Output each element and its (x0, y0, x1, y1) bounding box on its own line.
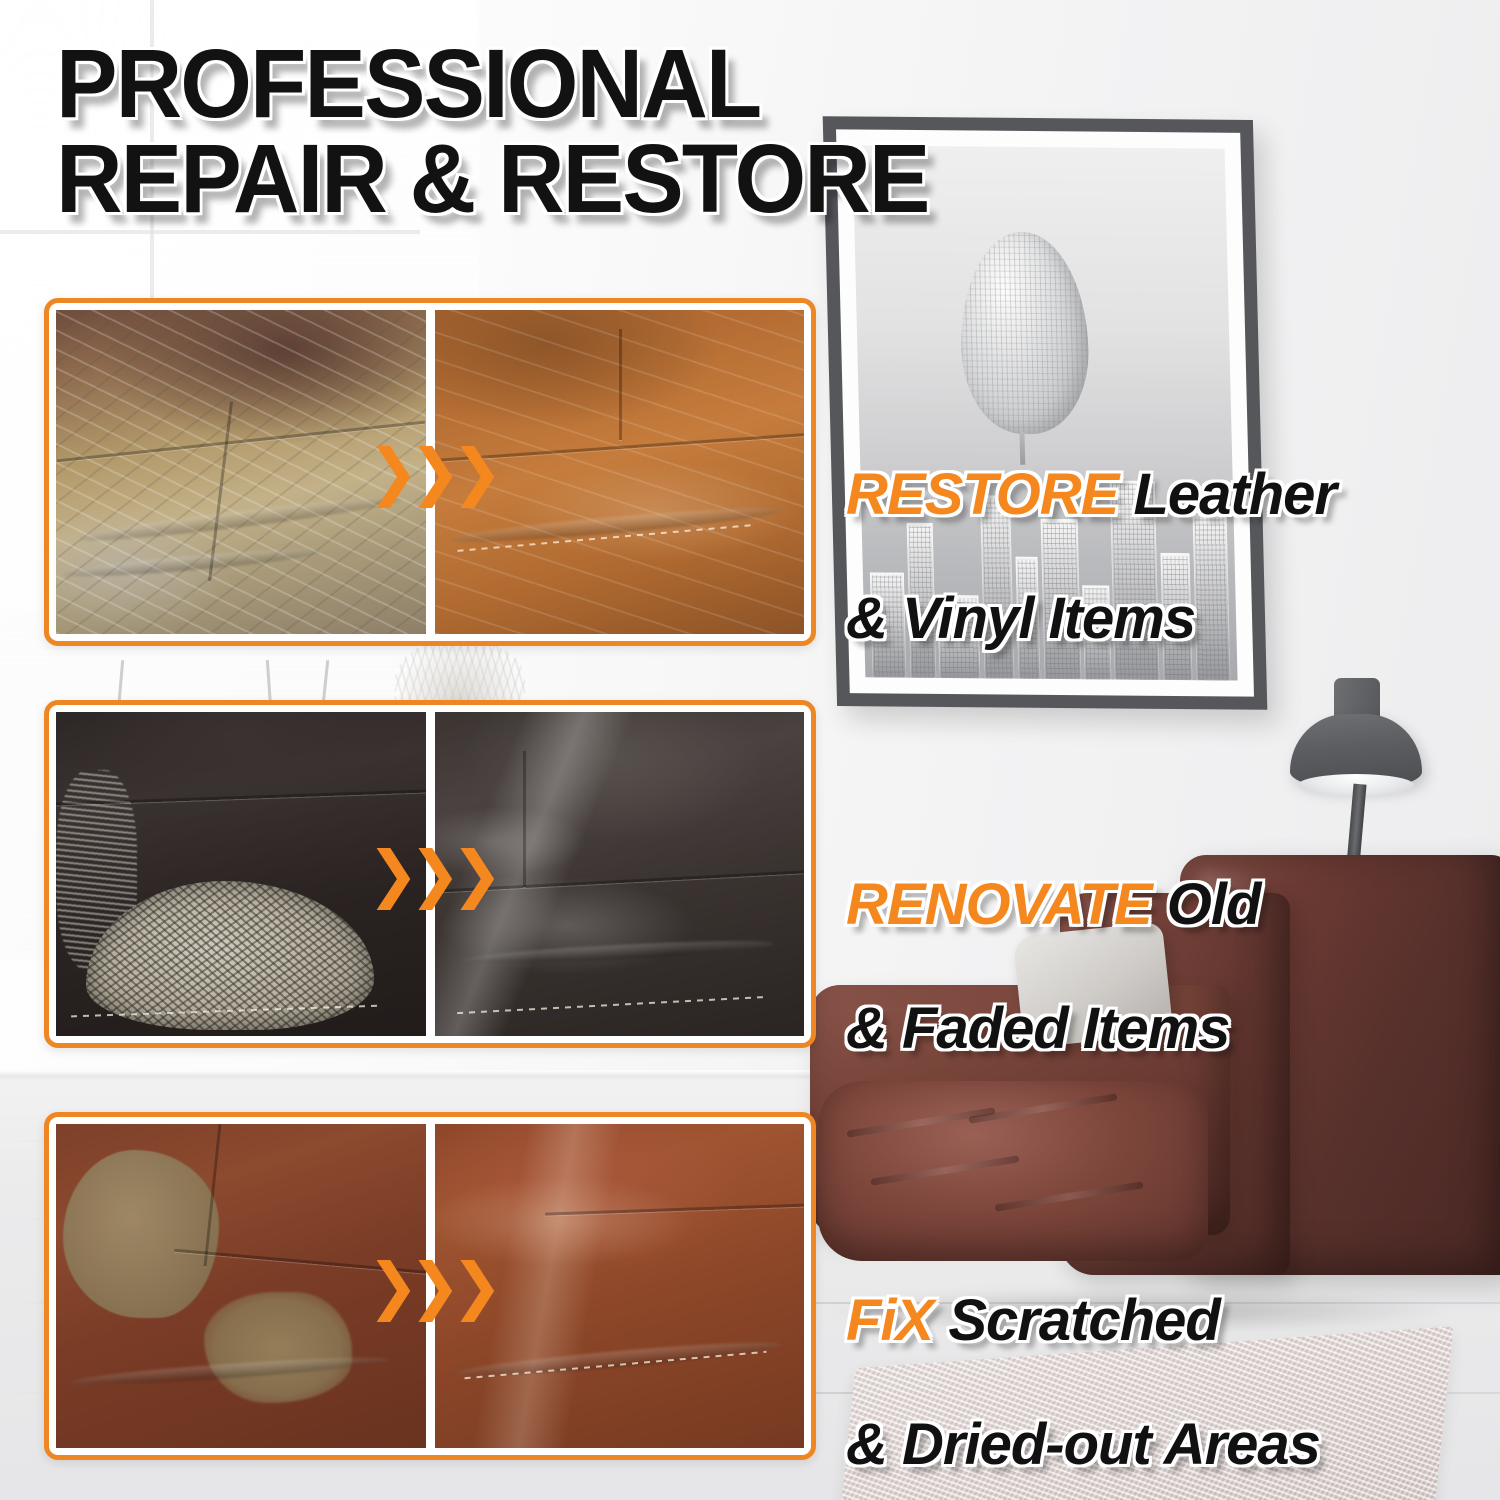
feature-line-1: RESTORE Leather (846, 464, 1336, 526)
feature-text-restore: RESTORE Leather & Vinyl Items (846, 402, 1336, 712)
after-image-dark-recliner (435, 712, 805, 1036)
headline-line-2: REPAIR & RESTORE (56, 124, 928, 233)
page-title: PROFESSIONALREPAIR & RESTORE (56, 36, 928, 226)
after-image-tan-sofa (435, 310, 805, 634)
before-image-brown-sofa (56, 1124, 426, 1448)
before-after-pair: ❯❯❯ (56, 712, 804, 1036)
product-infographic: PROFESSIONALREPAIR & RESTORE ❯❯❯ (0, 0, 1500, 1500)
before-image-dark-recliner (56, 712, 426, 1036)
feature-keyword: RESTORE (846, 462, 1118, 527)
feature-keyword: RENOVATE (846, 872, 1152, 937)
before-after-pair: ❯❯❯ (56, 310, 804, 634)
before-after-pair: ❯❯❯ (56, 1124, 804, 1448)
feature-line-1: FiX Scratched (846, 1290, 1320, 1352)
feature-line-2: & Faded Items (846, 998, 1260, 1060)
before-image-tan-sofa (56, 310, 426, 634)
feature-rest: Old (1152, 872, 1261, 937)
feature-line-1: RENOVATE Old (846, 874, 1260, 936)
comparison-panel-renovate: ❯❯❯ (44, 700, 816, 1048)
feature-rest: Scratched (933, 1288, 1220, 1353)
comparison-panel-fix: ❯❯❯ (44, 1112, 816, 1460)
feature-rest: Leather (1118, 462, 1336, 527)
after-image-brown-sofa (435, 1124, 805, 1448)
feature-text-fix: FiX Scratched & Dried-out Areas (846, 1228, 1320, 1500)
feature-text-renovate: RENOVATE Old & Faded Items (846, 812, 1260, 1122)
headline-line-1: PROFESSIONAL (56, 29, 760, 138)
feature-line-2: & Vinyl Items (846, 588, 1336, 650)
comparison-panel-restore: ❯❯❯ (44, 298, 816, 646)
feature-line-2: & Dried-out Areas (846, 1414, 1320, 1476)
feature-keyword: FiX (846, 1288, 933, 1353)
